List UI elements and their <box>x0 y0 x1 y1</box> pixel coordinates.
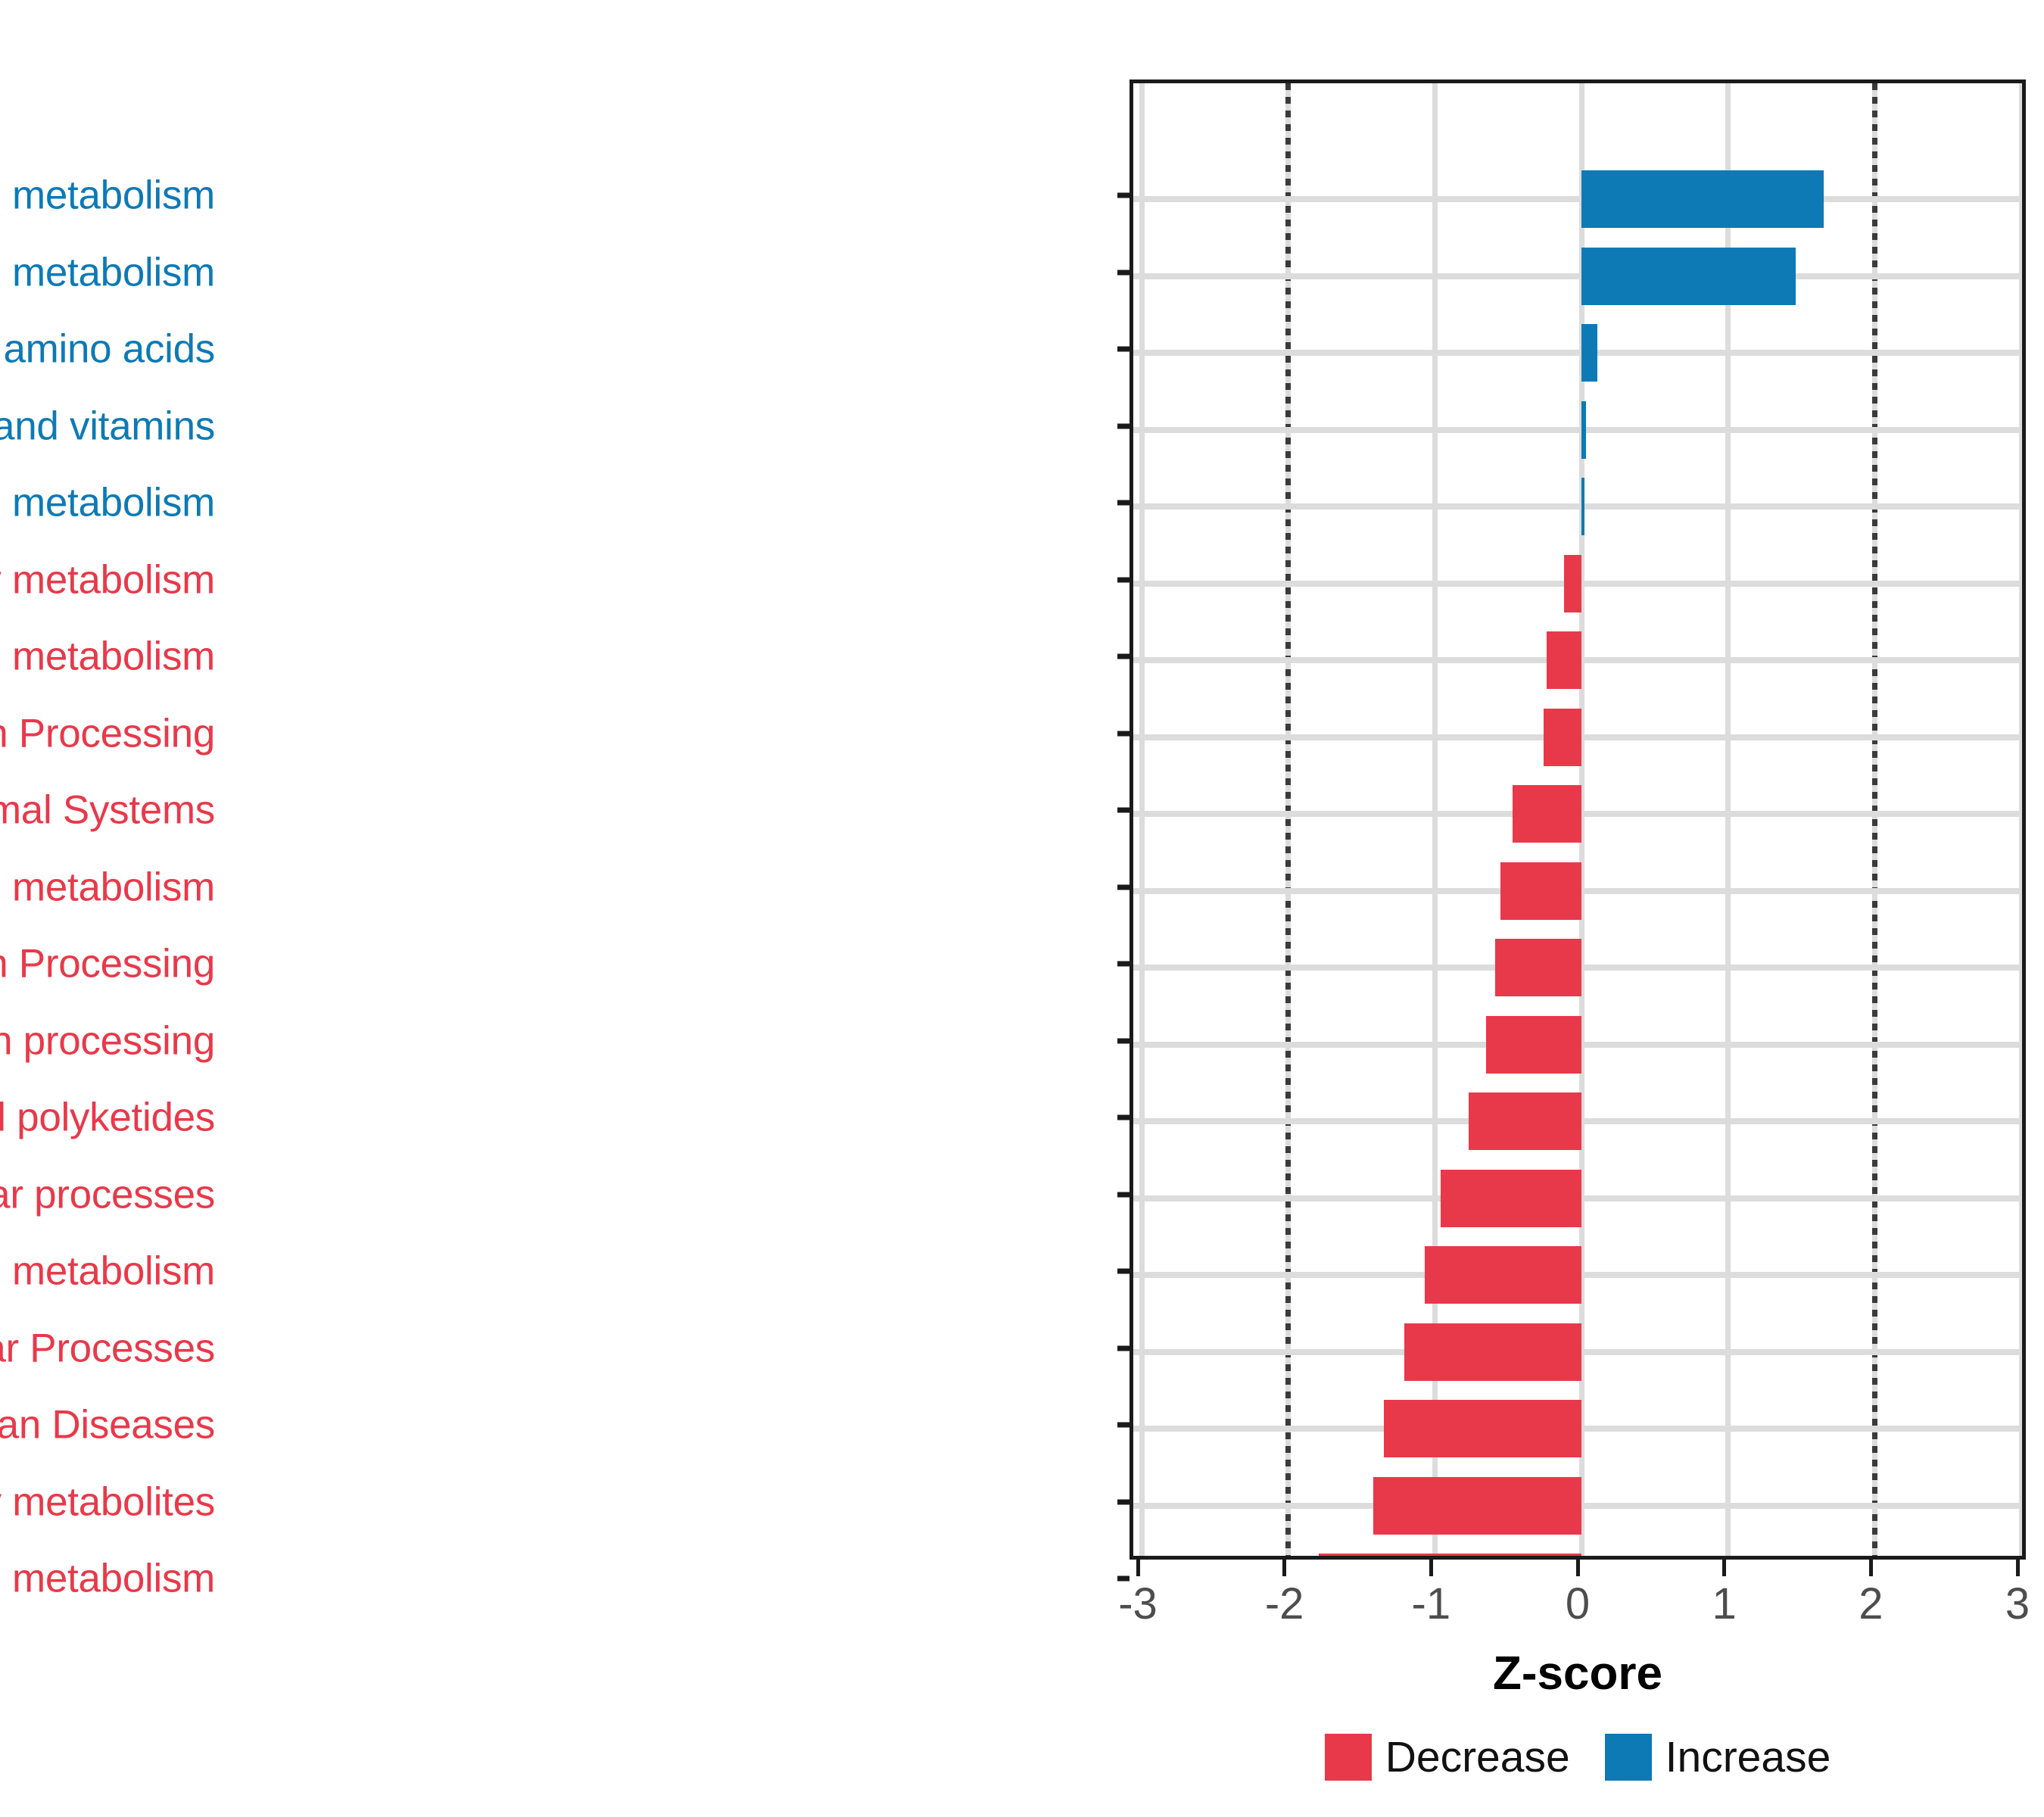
y-axis-tick <box>1117 577 1129 582</box>
bar <box>1547 631 1581 689</box>
x-axis-tick <box>1429 1560 1433 1576</box>
y-axis-tick <box>1117 1269 1129 1274</box>
legend-swatch <box>1605 1734 1652 1781</box>
category-label: Carbohydrate metabolism <box>0 483 215 523</box>
x-axis-tick-label: 1 <box>1712 1582 1737 1626</box>
bar <box>1581 324 1597 382</box>
category-label: Xenobiotics biodegradation and metabolis… <box>0 176 215 216</box>
bar <box>1500 862 1581 920</box>
x-gridline <box>2019 83 2024 1556</box>
x-axis-tick <box>2016 1560 2020 1576</box>
category-label: Amino acid metabolism <box>0 1559 215 1599</box>
category-label: Glycan biosynthesis and metabolism <box>0 867 215 907</box>
y-axis-tick <box>1117 654 1129 659</box>
bar <box>1581 478 1584 535</box>
x-axis-title: Z-score <box>1129 1650 2026 1697</box>
y-axis-tick <box>1117 961 1129 967</box>
legend-swatch <box>1325 1734 1372 1781</box>
category-label: Cellular Processes <box>0 1328 215 1368</box>
bar <box>1486 1016 1581 1074</box>
y-axis-tick <box>1117 500 1129 506</box>
y-axis-tick <box>1117 1576 1129 1582</box>
x-axis-tick <box>1869 1560 1873 1576</box>
x-axis-tick-label: 2 <box>1859 1582 1883 1626</box>
legend-label: Decrease <box>1385 1736 1570 1779</box>
x-axis-tick-label: -3 <box>1118 1582 1158 1626</box>
category-label: Lipid metabolism <box>0 252 215 292</box>
legend: DecreaseIncrease <box>1129 1734 2026 1781</box>
legend-item[interactable]: Increase <box>1605 1734 1831 1781</box>
bar <box>1469 1092 1581 1150</box>
x-axis-tick-label: -2 <box>1265 1582 1304 1626</box>
category-label: Biosynthesis of other secondary metaboli… <box>0 1482 215 1522</box>
y-axis-tick <box>1117 808 1129 813</box>
x-axis-tick <box>1136 1560 1140 1576</box>
y-axis-tick <box>1117 1192 1129 1197</box>
plot-panel <box>1129 79 2026 1560</box>
y-axis-tick <box>1117 731 1129 736</box>
legend-item[interactable]: Decrease <box>1325 1734 1570 1781</box>
y-axis-tick <box>1117 347 1129 352</box>
category-label: Environmental Information Processing <box>0 713 215 753</box>
legend-label: Increase <box>1665 1736 1831 1779</box>
x-axis-tick <box>1282 1560 1286 1576</box>
chart-figure: Xenobiotics biodegradation and metabolis… <box>0 0 2044 1817</box>
bar <box>1495 939 1581 996</box>
category-label: Genetic Information Processing <box>0 944 215 984</box>
x-gridline <box>1139 83 1145 1556</box>
y-axis-tick <box>1117 270 1129 275</box>
bar <box>1581 170 1824 228</box>
y-axis-tick <box>1117 1499 1129 1504</box>
bar <box>1581 248 1796 305</box>
x-axis-tick-label: 0 <box>1566 1582 1590 1626</box>
bar <box>1319 1554 1581 1560</box>
bar <box>1425 1246 1581 1304</box>
y-gridline <box>1133 196 2022 202</box>
y-axis-tick <box>1117 884 1129 890</box>
bar <box>1513 785 1581 843</box>
category-label: Metabolism of cofactors and vitamins <box>0 406 215 446</box>
y-gridline <box>1133 427 2022 433</box>
category-label: Human Diseases <box>0 1405 215 1445</box>
x-axis-tick <box>1722 1560 1726 1576</box>
x-axis-tick-label: -1 <box>1412 1582 1451 1626</box>
y-axis-tick <box>1117 1115 1129 1120</box>
reference-line <box>1872 83 1877 1556</box>
bar <box>1373 1477 1581 1535</box>
bar <box>1384 1400 1581 1457</box>
category-label: Metabolism of terpenoids and polyketides <box>0 1098 215 1138</box>
category-label: Protein families: signaling and cellular… <box>0 1174 215 1214</box>
x-axis-tick <box>1576 1560 1580 1576</box>
y-axis-tick <box>1117 1345 1129 1351</box>
category-label: Metabolism of other amino acids <box>0 329 215 369</box>
category-label: Protein families: genetic information pr… <box>0 1021 215 1061</box>
y-gridline <box>1133 350 2022 356</box>
y-axis-tick <box>1117 1423 1129 1428</box>
bar <box>1544 709 1581 766</box>
category-axis-labels: Xenobiotics biodegradation and metabolis… <box>0 0 1129 1560</box>
y-gridline <box>1133 503 2022 510</box>
y-gridline <box>1133 273 2022 279</box>
bar <box>1441 1170 1581 1227</box>
category-label: Energy metabolism <box>0 559 215 600</box>
y-axis-tick <box>1117 423 1129 429</box>
category-label: Nucleotide metabolism <box>0 637 215 677</box>
x-axis-tick-label: 3 <box>2005 1582 2030 1626</box>
category-label: Protein families: metabolism <box>0 1251 215 1292</box>
y-axis-tick <box>1117 1038 1129 1043</box>
bar <box>1564 555 1581 612</box>
bar <box>1404 1323 1581 1381</box>
reference-line <box>1285 83 1291 1556</box>
bar <box>1581 401 1586 459</box>
y-axis-tick <box>1117 193 1129 198</box>
category-label: Organismal Systems <box>0 790 215 831</box>
